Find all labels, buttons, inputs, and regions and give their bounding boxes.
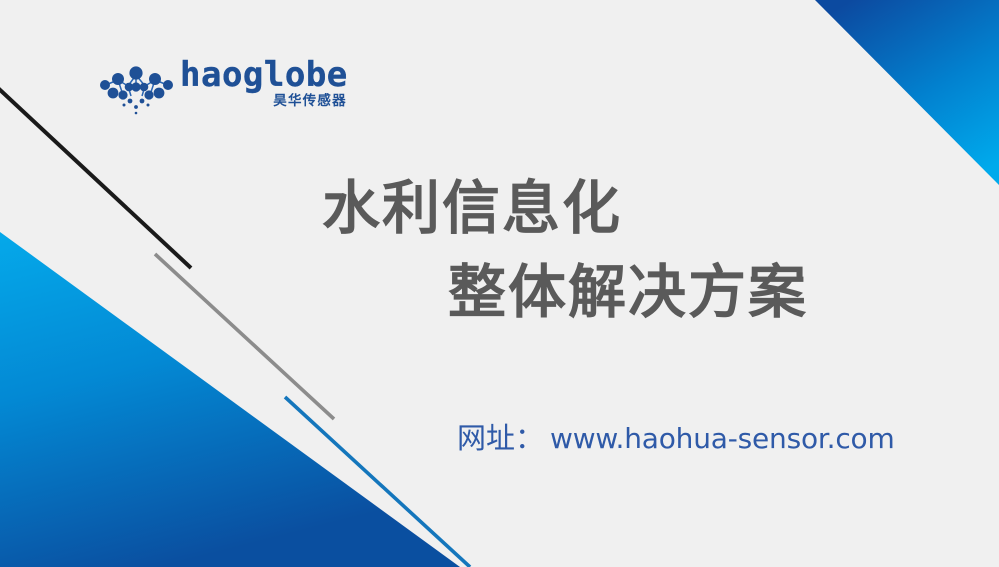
page-title-line-1: 水利信息化	[0, 166, 999, 250]
website-line: 网址： www.haohua-sensor.com	[457, 421, 895, 456]
presentation-slide: haoglobe 昊华传感器 水利信息化 整体解决方案 网址： www.haoh…	[0, 0, 999, 567]
page-title-line-2: 整体解决方案	[0, 250, 999, 334]
website-label: 网址：	[457, 421, 544, 455]
logo-wordmark: haoglobe	[180, 58, 348, 92]
top-right-blue-wedge	[815, 0, 999, 185]
logo-text-group: haoglobe 昊华传感器	[180, 58, 348, 109]
logo-subtext: 昊华传感器	[273, 94, 347, 109]
network-nodes-icon	[98, 62, 174, 118]
brand-logo: haoglobe 昊华传感器	[98, 58, 328, 120]
website-url[interactable]: www.haohua-sensor.com	[550, 422, 895, 456]
page-title: 水利信息化 整体解决方案	[0, 166, 999, 334]
